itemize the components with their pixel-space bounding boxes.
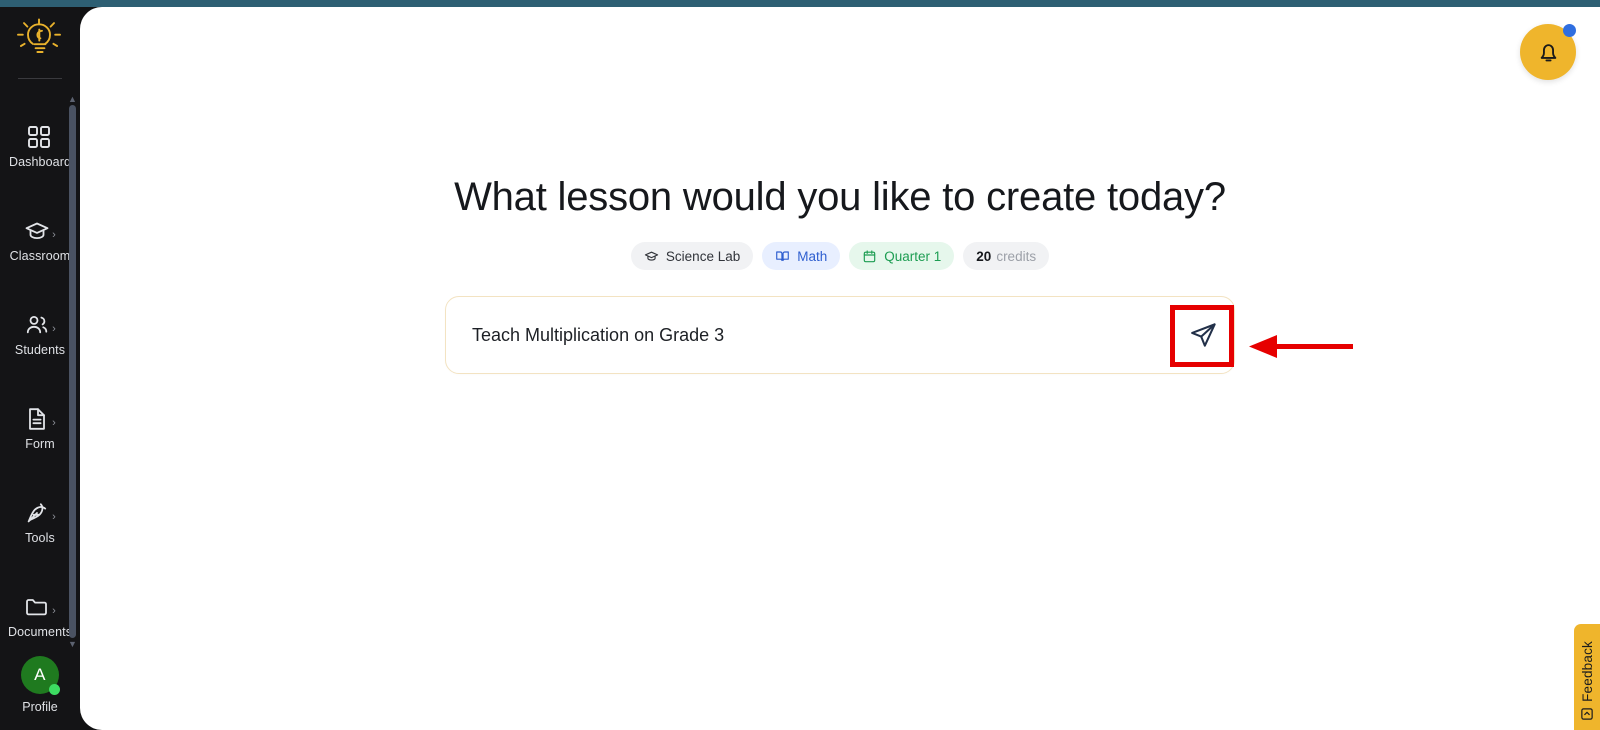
chip-quarter[interactable]: Quarter 1 — [849, 242, 954, 270]
scroll-down-arrow-icon[interactable]: ▼ — [68, 640, 77, 648]
book-open-icon — [775, 249, 790, 264]
chip-label: Math — [797, 249, 827, 264]
chip-math[interactable]: Math — [762, 242, 840, 270]
sidebar-item-profile[interactable]: A Profile — [0, 656, 80, 730]
users-group-icon — [24, 312, 50, 338]
chip-science-lab[interactable]: Science Lab — [631, 242, 753, 270]
prompt-input[interactable] — [472, 325, 1162, 346]
scrollbar-thumb[interactable] — [69, 105, 76, 638]
lightbulb-idea-icon — [17, 17, 63, 63]
credits-label: credits — [996, 249, 1036, 264]
avatar-initial: A — [34, 665, 46, 685]
hero-section: What lesson would you like to create tod… — [80, 7, 1600, 374]
chevron-right-icon: › — [52, 324, 56, 335]
top-accent-strip — [0, 0, 1600, 7]
folder-icon — [24, 594, 50, 620]
sidebar-divider — [18, 78, 62, 79]
context-chips: Science Lab Math — [631, 242, 1049, 270]
grid-dashboard-icon — [26, 124, 52, 150]
sidebar-item-label: Tools — [25, 531, 55, 545]
chevron-right-icon: › — [52, 512, 56, 523]
chevron-right-icon: › — [52, 230, 56, 241]
send-button[interactable] — [1175, 307, 1231, 363]
scroll-up-arrow-icon[interactable]: ▲ — [68, 95, 77, 103]
feedback-tab[interactable]: Feedback — [1574, 624, 1600, 730]
feedback-square-icon — [1581, 708, 1593, 720]
prompt-box[interactable] — [445, 296, 1235, 374]
credits-amount: 20 — [976, 249, 991, 264]
sidebar-nav: Dashboard › Classroom — [0, 83, 80, 656]
chip-credits[interactable]: 20 credits — [963, 242, 1049, 270]
status-online-dot — [49, 684, 60, 695]
send-paper-plane-icon — [1189, 321, 1218, 350]
sidebar-item-label: Dashboard — [9, 155, 71, 169]
avatar[interactable]: A — [21, 656, 59, 694]
page-title: What lesson would you like to create tod… — [454, 175, 1226, 220]
prompt-row — [445, 296, 1235, 374]
graduation-cap-icon — [24, 218, 50, 244]
sidebar-scrollbar[interactable]: ▲ ▼ — [68, 105, 77, 638]
main-content: What lesson would you like to create tod… — [80, 7, 1600, 730]
calendar-icon — [862, 249, 877, 264]
chip-label: Quarter 1 — [884, 249, 941, 264]
chevron-right-icon: › — [52, 606, 56, 617]
sidebar: Dashboard › Classroom — [0, 0, 80, 730]
chevron-right-icon: › — [52, 418, 56, 429]
sidebar-item-label: Classroom — [10, 249, 71, 263]
sidebar-item-label: Form — [25, 437, 55, 451]
feather-pen-icon — [24, 500, 50, 526]
app-logo[interactable] — [12, 12, 68, 68]
sidebar-item-label: Documents — [8, 625, 72, 639]
document-lines-icon — [24, 406, 50, 432]
chip-label: Science Lab — [666, 249, 740, 264]
profile-label: Profile — [22, 700, 57, 714]
graduation-cap-icon — [644, 249, 659, 264]
sidebar-item-label: Students — [15, 343, 65, 357]
feedback-label: Feedback — [1580, 641, 1595, 702]
